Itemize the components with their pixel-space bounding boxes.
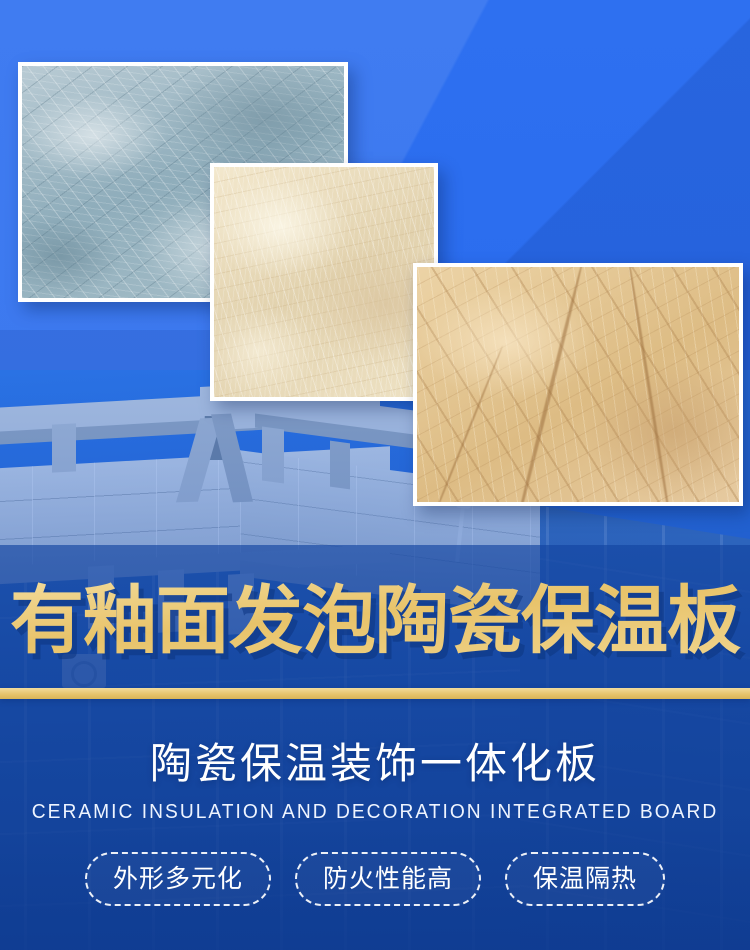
headline-title: 有釉面发泡陶瓷保温板	[0, 576, 750, 666]
cream-travertine-texture	[214, 167, 434, 397]
marble-vein	[625, 263, 676, 506]
feature-badge: 外形多元化	[85, 852, 271, 906]
marble-vein	[510, 263, 585, 506]
marble-vein	[423, 345, 504, 506]
feature-badge: 防火性能高	[295, 852, 481, 906]
gold-divider-bar	[0, 688, 750, 699]
product-promo-banner: 有釉面发泡陶瓷保温板 陶瓷保温装饰一体化板 CERAMIC INSULATION…	[0, 0, 750, 950]
cream-travertine-tile	[210, 163, 438, 401]
subtitle-chinese: 陶瓷保温装饰一体化板	[0, 736, 750, 792]
tan-sand-marble-tile	[413, 263, 743, 506]
subtitle-english: CERAMIC INSULATION AND DECORATION INTEGR…	[15, 798, 735, 826]
tan-sand-marble-texture	[417, 267, 739, 502]
feature-badge: 保温隔热	[505, 852, 665, 906]
feature-badge-list: 外形多元化 防火性能高 保温隔热	[0, 852, 750, 906]
